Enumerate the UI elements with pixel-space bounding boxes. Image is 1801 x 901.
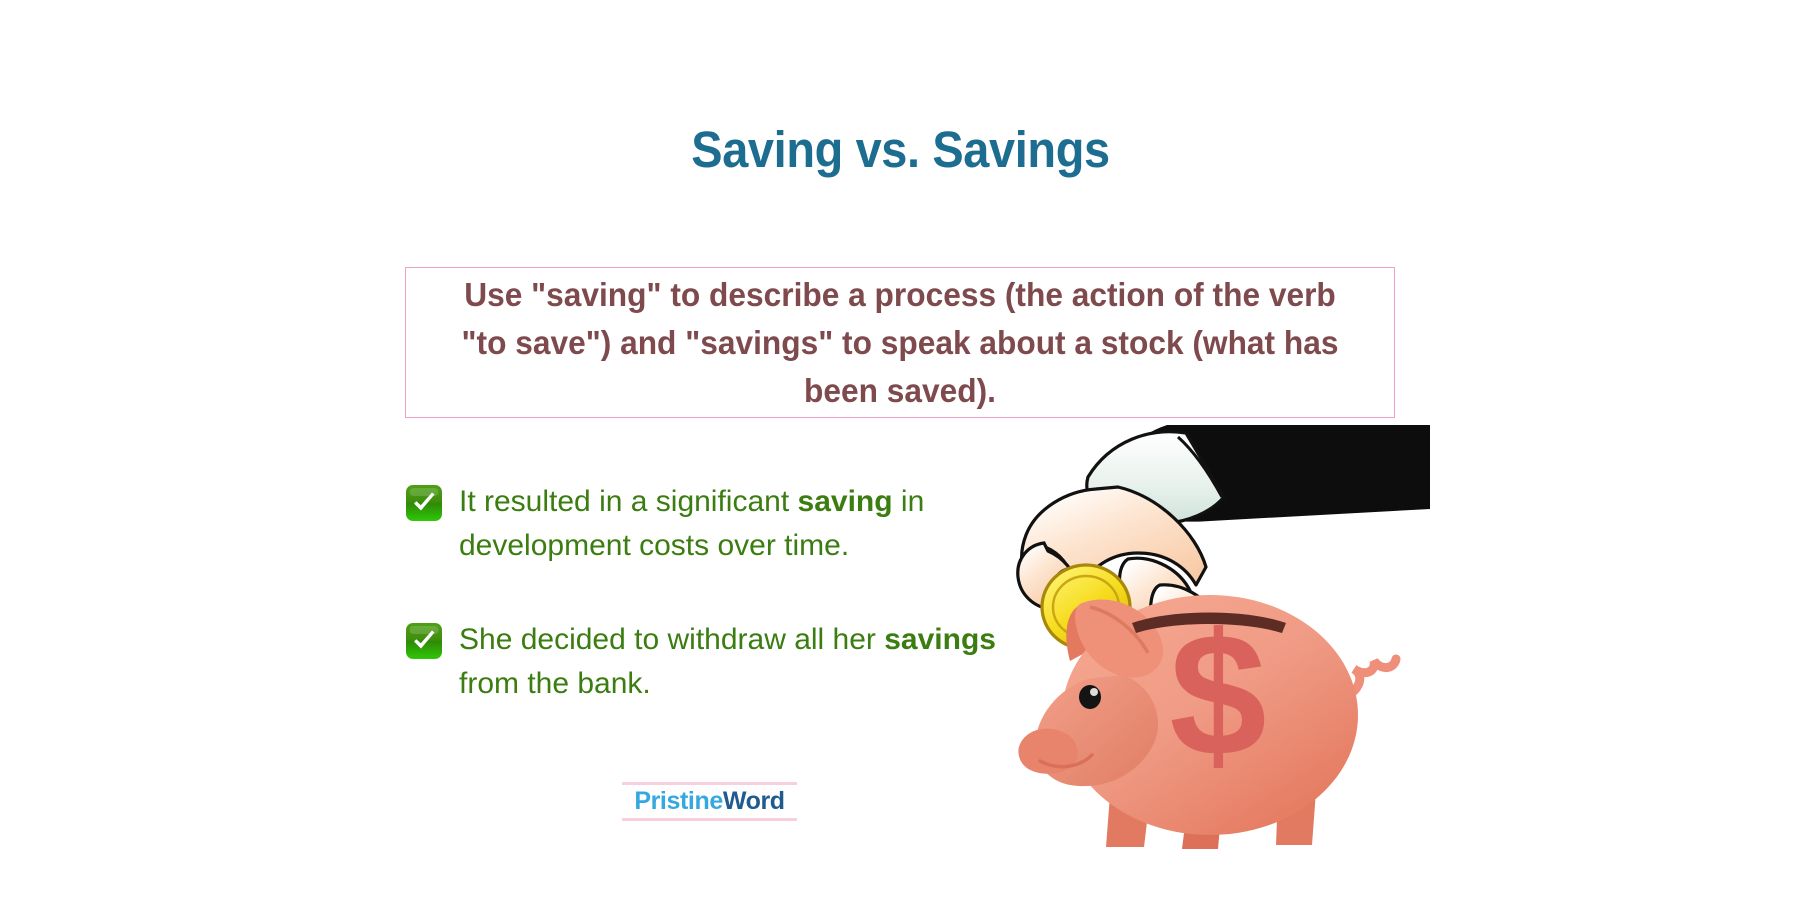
dollar-sign-label: $: [1169, 598, 1266, 793]
example-text-before: It resulted in a significant: [459, 485, 798, 518]
logo-text-pristine: Pristine: [634, 787, 723, 815]
definition-text: Use "saving" to describe a process (the …: [426, 271, 1374, 415]
brand-logo: PristineWord: [622, 782, 797, 821]
hand-dropping-coin-into-piggy-bank-illustration: $: [1010, 425, 1430, 885]
list-item: It resulted in a significant saving in d…: [405, 480, 1045, 568]
definition-box: Use "saving" to describe a process (the …: [405, 267, 1395, 418]
logo-text-word: Word: [723, 787, 785, 815]
green-check-mark-icon: [405, 484, 443, 522]
logo-bottom-rule: [622, 818, 797, 821]
example-sentence: It resulted in a significant saving in d…: [459, 480, 1019, 568]
example-sentence: She decided to withdraw all her savings …: [459, 618, 1019, 706]
piggy-bank-icon: $: [1018, 595, 1396, 849]
example-text-after: from the bank.: [459, 667, 651, 700]
example-keyword: savings: [884, 623, 996, 656]
logo-text: PristineWord: [622, 785, 797, 818]
page-title: Saving vs. Savings: [72, 122, 1729, 178]
green-check-mark-icon: [405, 622, 443, 660]
example-keyword: saving: [798, 485, 893, 518]
example-text-before: She decided to withdraw all her: [459, 623, 884, 656]
slide-canvas: Saving vs. Savings Use "saving" to descr…: [0, 0, 1801, 901]
example-list: It resulted in a significant saving in d…: [405, 480, 1045, 756]
list-item: She decided to withdraw all her savings …: [405, 618, 1045, 706]
